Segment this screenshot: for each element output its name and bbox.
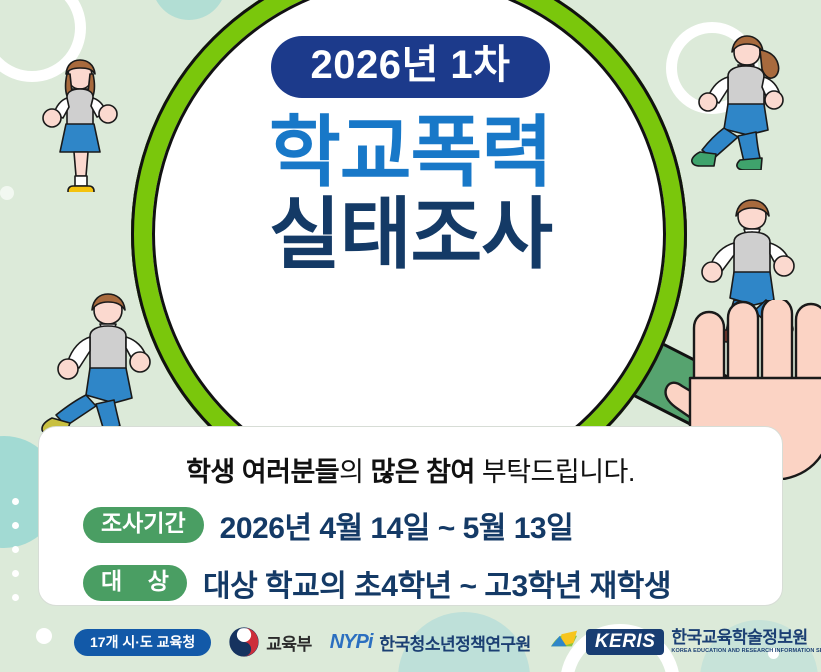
nypi-mark-icon: NYPi <box>330 631 373 654</box>
poster-title-line-2: 실태조사 <box>269 196 552 272</box>
lead-normal-1: 의 <box>339 457 370 487</box>
keris-name: 한국교육학술정보원 <box>671 629 821 647</box>
keris-wordmark: KERIS <box>586 629 665 655</box>
moe-name: 교육부 <box>266 630 311 655</box>
taegeuk-icon <box>229 627 259 657</box>
footer-logos: 17개 시·도 교육청 교육부 NYPi 한국청소년정책연구원 KERIS 한국… <box>0 612 821 672</box>
education-offices-badge: 17개 시·도 교육청 <box>74 629 211 656</box>
value-survey-target: 대상 학교의 초4학년 ~ 고3학년 재학생 <box>203 561 671 605</box>
info-panel: 학생 여러분들의 많은 참여 부탁드립니다. 조사기간 2026년 4월 14일… <box>38 426 783 606</box>
keris-name-block: 한국교육학술정보원 KOREA EDUCATION AND RESEARCH I… <box>671 629 821 655</box>
label-survey-target: 대 상 <box>83 565 187 601</box>
moe-logo-unit: 교육부 <box>229 627 311 657</box>
lead-bold-students: 학생 여러분들 <box>186 457 339 487</box>
keris-subtitle: KOREA EDUCATION AND RESEARCH INFORMATION… <box>671 649 821 655</box>
label-survey-period: 조사기간 <box>83 507 204 543</box>
poster-title-line-1: 학교폭력 <box>269 114 552 190</box>
poster-canvas: 2026년 1차 학교폭력 실태조사 학생 여러분들의 많은 참여 부탁드립니다… <box>0 0 821 672</box>
survey-round-badge: 2026년 1차 <box>271 36 551 98</box>
panel-lead-text: 학생 여러분들의 많은 참여 부탁드립니다. <box>39 450 782 489</box>
keris-logo-unit: KERIS 한국교육학술정보원 KOREA EDUCATION AND RESE… <box>549 629 821 655</box>
lead-bold-participation: 많은 참여 <box>370 457 474 487</box>
nypi-logo-unit: NYPi 한국청소년정책연구원 <box>330 630 531 655</box>
nypi-name: 한국청소년정책연구원 <box>379 630 530 655</box>
info-row-target: 대 상 대상 학교의 초4학년 ~ 고3학년 재학생 <box>39 561 782 605</box>
keris-mark-icon <box>549 629 579 655</box>
info-row-period: 조사기간 2026년 4월 14일 ~ 5월 13일 <box>39 503 782 547</box>
value-survey-period: 2026년 4월 14일 ~ 5월 13일 <box>220 503 574 547</box>
lead-normal-2: 부탁드립니다. <box>475 457 635 487</box>
